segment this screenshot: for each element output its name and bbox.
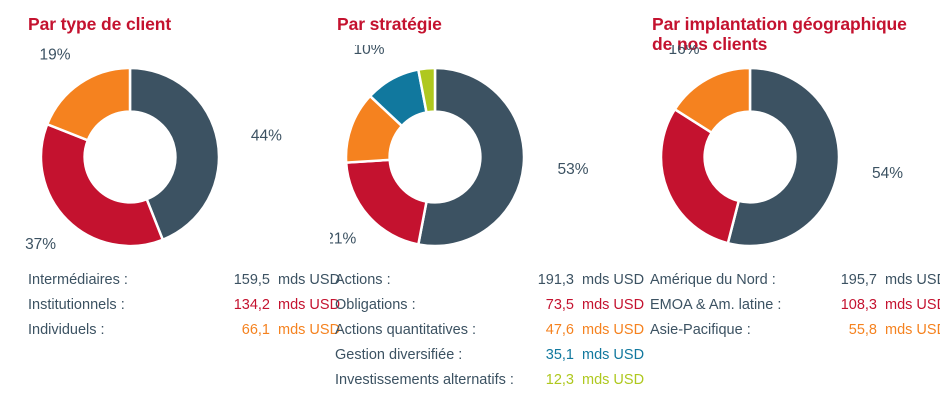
legend-geo: Amérique du Nord :195,7mds USDEMOA & Am.…: [635, 272, 940, 347]
donut-svg: 53%21%13%10%3%: [330, 45, 620, 270]
legend-value: 47,6: [500, 322, 582, 338]
legend-label: Investissements alternatifs :: [335, 372, 500, 388]
legend-value: 73,5: [500, 297, 582, 313]
legend-row: Investissements alternatifs :12,3mds USD: [335, 372, 650, 397]
legend-unit: mds USD: [885, 272, 940, 288]
panel-par-strategie: Par stratégie 53%21%13%10%3% Actions :19…: [320, 0, 635, 410]
legend-label: Obligations :: [335, 297, 500, 313]
legend-label: Individuels :: [28, 322, 180, 338]
donut-slice[interactable]: [346, 160, 426, 245]
legend-value: 195,7: [802, 272, 885, 288]
slice-percentage-label: 21%: [330, 231, 356, 248]
legend-value: 108,3: [802, 297, 885, 313]
slice-percentage-label: 44%: [251, 128, 282, 145]
legend-unit: mds USD: [885, 322, 940, 338]
slice-percentage-label: 16%: [669, 45, 700, 58]
legend-row: Asie-Pacifique :55,8mds USD: [650, 322, 940, 347]
legend-client: Intermédiaires :159,5mds USDInstitutionn…: [0, 272, 366, 347]
slice-percentage-label: 10%: [354, 45, 385, 58]
legend-value: 55,8: [802, 322, 885, 338]
legend-row: Intermédiaires :159,5mds USD: [28, 272, 348, 297]
legend-value: 35,1: [500, 347, 582, 363]
page-title-strategy: Par stratégie: [337, 14, 442, 34]
legend-value: 159,5: [180, 272, 278, 288]
legend-value: 191,3: [500, 272, 582, 288]
legend-row: Actions quantitatives :47,6mds USD: [335, 322, 650, 347]
donut-chart-strategy: 53%21%13%10%3%: [320, 45, 635, 270]
legend-label: Asie-Pacifique :: [650, 322, 802, 338]
legend-label: Actions :: [335, 272, 500, 288]
legend-row: Gestion diversifiée :35,1mds USD: [335, 347, 650, 372]
slice-percentage-label: 37%: [25, 236, 56, 253]
donut-chart-geo: 54%30%16%: [635, 45, 940, 270]
panel-par-implantation-geographique: Par implantation géographique de nos cli…: [635, 0, 940, 410]
legend-row: Institutionnels :134,2mds USD: [28, 297, 348, 322]
slice-percentage-label: 54%: [872, 165, 903, 182]
donut-slice[interactable]: [47, 68, 130, 140]
legend-value: 66,1: [180, 322, 278, 338]
slice-percentage-label: 53%: [557, 161, 588, 178]
legend-label: Amérique du Nord :: [650, 272, 802, 288]
page-title-client: Par type de client: [28, 14, 171, 34]
donut-svg: 54%30%16%: [640, 45, 930, 270]
donut-slice[interactable]: [41, 124, 163, 246]
legend-row: Amérique du Nord :195,7mds USD: [650, 272, 940, 297]
legend-row: EMOA & Am. latine :108,3mds USD: [650, 297, 940, 322]
legend-value: 12,3: [500, 372, 582, 388]
slice-percentage-label: 19%: [39, 47, 70, 64]
donut-chart-client: 44%37%19%: [0, 45, 320, 270]
donut-svg: 44%37%19%: [20, 45, 310, 270]
legend-row: Individuels :66,1mds USD: [28, 322, 348, 347]
legend-unit: mds USD: [885, 297, 940, 313]
legend-strategy: Actions :191,3mds USDObligations :73,5md…: [320, 272, 664, 397]
infographic-board: Par type de client 44%37%19% Intermédiai…: [0, 0, 940, 410]
legend-row: Obligations :73,5mds USD: [335, 297, 650, 322]
donut-slice[interactable]: [661, 109, 739, 243]
legend-label: Gestion diversifiée :: [335, 347, 500, 363]
legend-label: Intermédiaires :: [28, 272, 180, 288]
legend-row: Actions :191,3mds USD: [335, 272, 650, 297]
legend-label: Institutionnels :: [28, 297, 180, 313]
legend-label: EMOA & Am. latine :: [650, 297, 802, 313]
legend-value: 134,2: [180, 297, 278, 313]
panel-par-type-de-client: Par type de client 44%37%19% Intermédiai…: [0, 0, 320, 410]
legend-label: Actions quantitatives :: [335, 322, 500, 338]
